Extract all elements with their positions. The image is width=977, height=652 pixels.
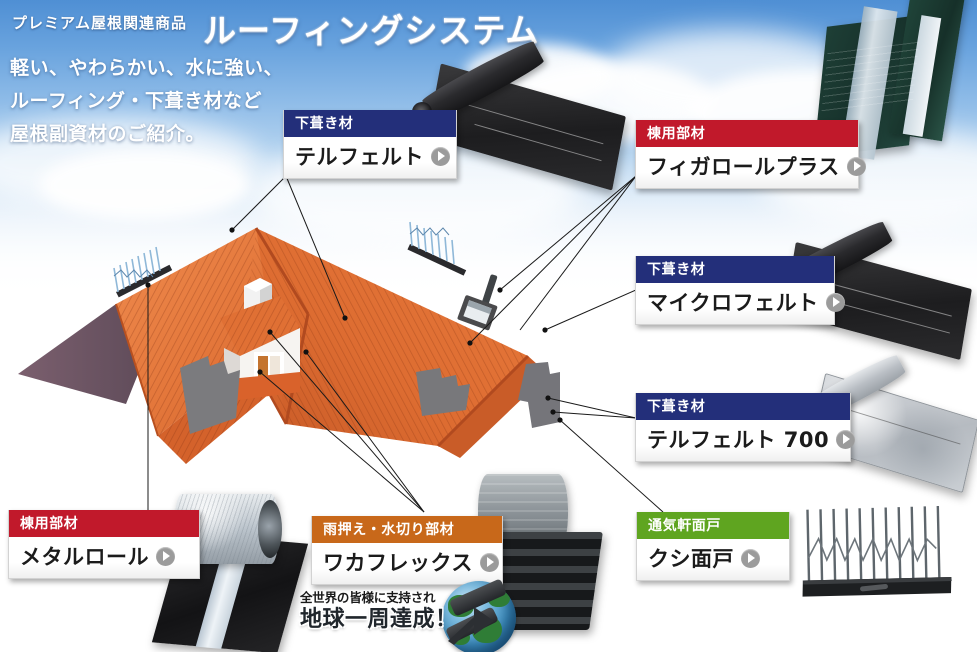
play-arrow-icon[interactable] [480, 553, 499, 572]
lede-line-1: 軽い、やわらかい、水に強い、 [10, 52, 310, 85]
product-name-micro-felt[interactable]: マイクロフェルト [636, 283, 834, 324]
product-category-terufelt: 下葺き材 [284, 110, 456, 137]
product-category-metal-roll: 棟用部材 [9, 510, 199, 537]
globe-achievement-badge: 全世界の皆様に支持され 地球一周達成！ [300, 583, 535, 649]
badge-line-2: 地球一周達成！ [300, 601, 458, 633]
play-arrow-icon[interactable] [431, 147, 450, 166]
play-arrow-icon[interactable] [847, 157, 866, 176]
lede-line-2: ルーフィング・下葺き材など [10, 85, 310, 118]
banner-lede: 軽い、やわらかい、水に強い、 ルーフィング・下葺き材など 屋根副資材のご紹介。 [10, 52, 310, 151]
product-category-wakaflex: 雨押え・水切り部材 [312, 516, 502, 543]
page-title: ルーフィングシステム [203, 4, 539, 52]
play-arrow-icon[interactable] [741, 549, 760, 568]
roofing-system-banner: プレミアム屋根関連商品 ルーフィングシステム 軽い、やわらかい、水に強い、 ルー… [0, 0, 977, 652]
play-arrow-icon[interactable] [156, 547, 175, 566]
product-card-metal-roll[interactable]: 棟用部材 メタルロール [8, 510, 200, 579]
product-card-micro-felt[interactable]: 下葺き材 マイクロフェルト [635, 256, 835, 325]
product-card-figaroll-plus[interactable]: 棟用部材 フィガロールプラス [635, 120, 859, 189]
product-name-figaroll-plus[interactable]: フィガロールプラス [636, 147, 858, 188]
product-label-terufelt-700: テルフェルト 700 [647, 424, 829, 454]
product-name-metal-roll[interactable]: メタルロール [9, 537, 199, 578]
product-category-kushi-mendo: 通気軒面戸 [637, 512, 789, 539]
product-photo-kushi-mendo [786, 492, 977, 607]
play-arrow-icon[interactable] [826, 293, 845, 312]
product-name-terufelt[interactable]: テルフェルト [284, 137, 456, 178]
product-category-micro-felt: 下葺き材 [636, 256, 834, 283]
product-name-kushi-mendo[interactable]: クシ面戸 [637, 539, 789, 580]
product-category-figaroll-plus: 棟用部材 [636, 120, 858, 147]
banner-kicker: プレミアム屋根関連商品 [12, 12, 187, 33]
product-label-wakaflex: ワカフレックス [323, 547, 473, 577]
product-name-terufelt-700[interactable]: テルフェルト 700 [636, 420, 850, 461]
product-category-terufelt-700: 下葺き材 [636, 393, 850, 420]
product-label-micro-felt: マイクロフェルト [647, 287, 819, 317]
lede-line-3: 屋根副資材のご紹介。 [10, 118, 310, 151]
product-label-metal-roll: メタルロール [20, 541, 149, 571]
play-arrow-icon[interactable] [836, 430, 855, 449]
product-label-kushi-mendo: クシ面戸 [648, 543, 734, 573]
product-label-figaroll-plus: フィガロールプラス [647, 151, 840, 181]
product-label-terufelt: テルフェルト [295, 141, 424, 171]
product-card-wakaflex[interactable]: 雨押え・水切り部材 ワカフレックス [311, 516, 503, 585]
product-card-terufelt[interactable]: 下葺き材 テルフェルト [283, 110, 457, 179]
product-card-terufelt-700[interactable]: 下葺き材 テルフェルト 700 [635, 393, 851, 462]
product-name-wakaflex[interactable]: ワカフレックス [312, 543, 502, 584]
product-card-kushi-mendo[interactable]: 通気軒面戸 クシ面戸 [636, 512, 790, 581]
